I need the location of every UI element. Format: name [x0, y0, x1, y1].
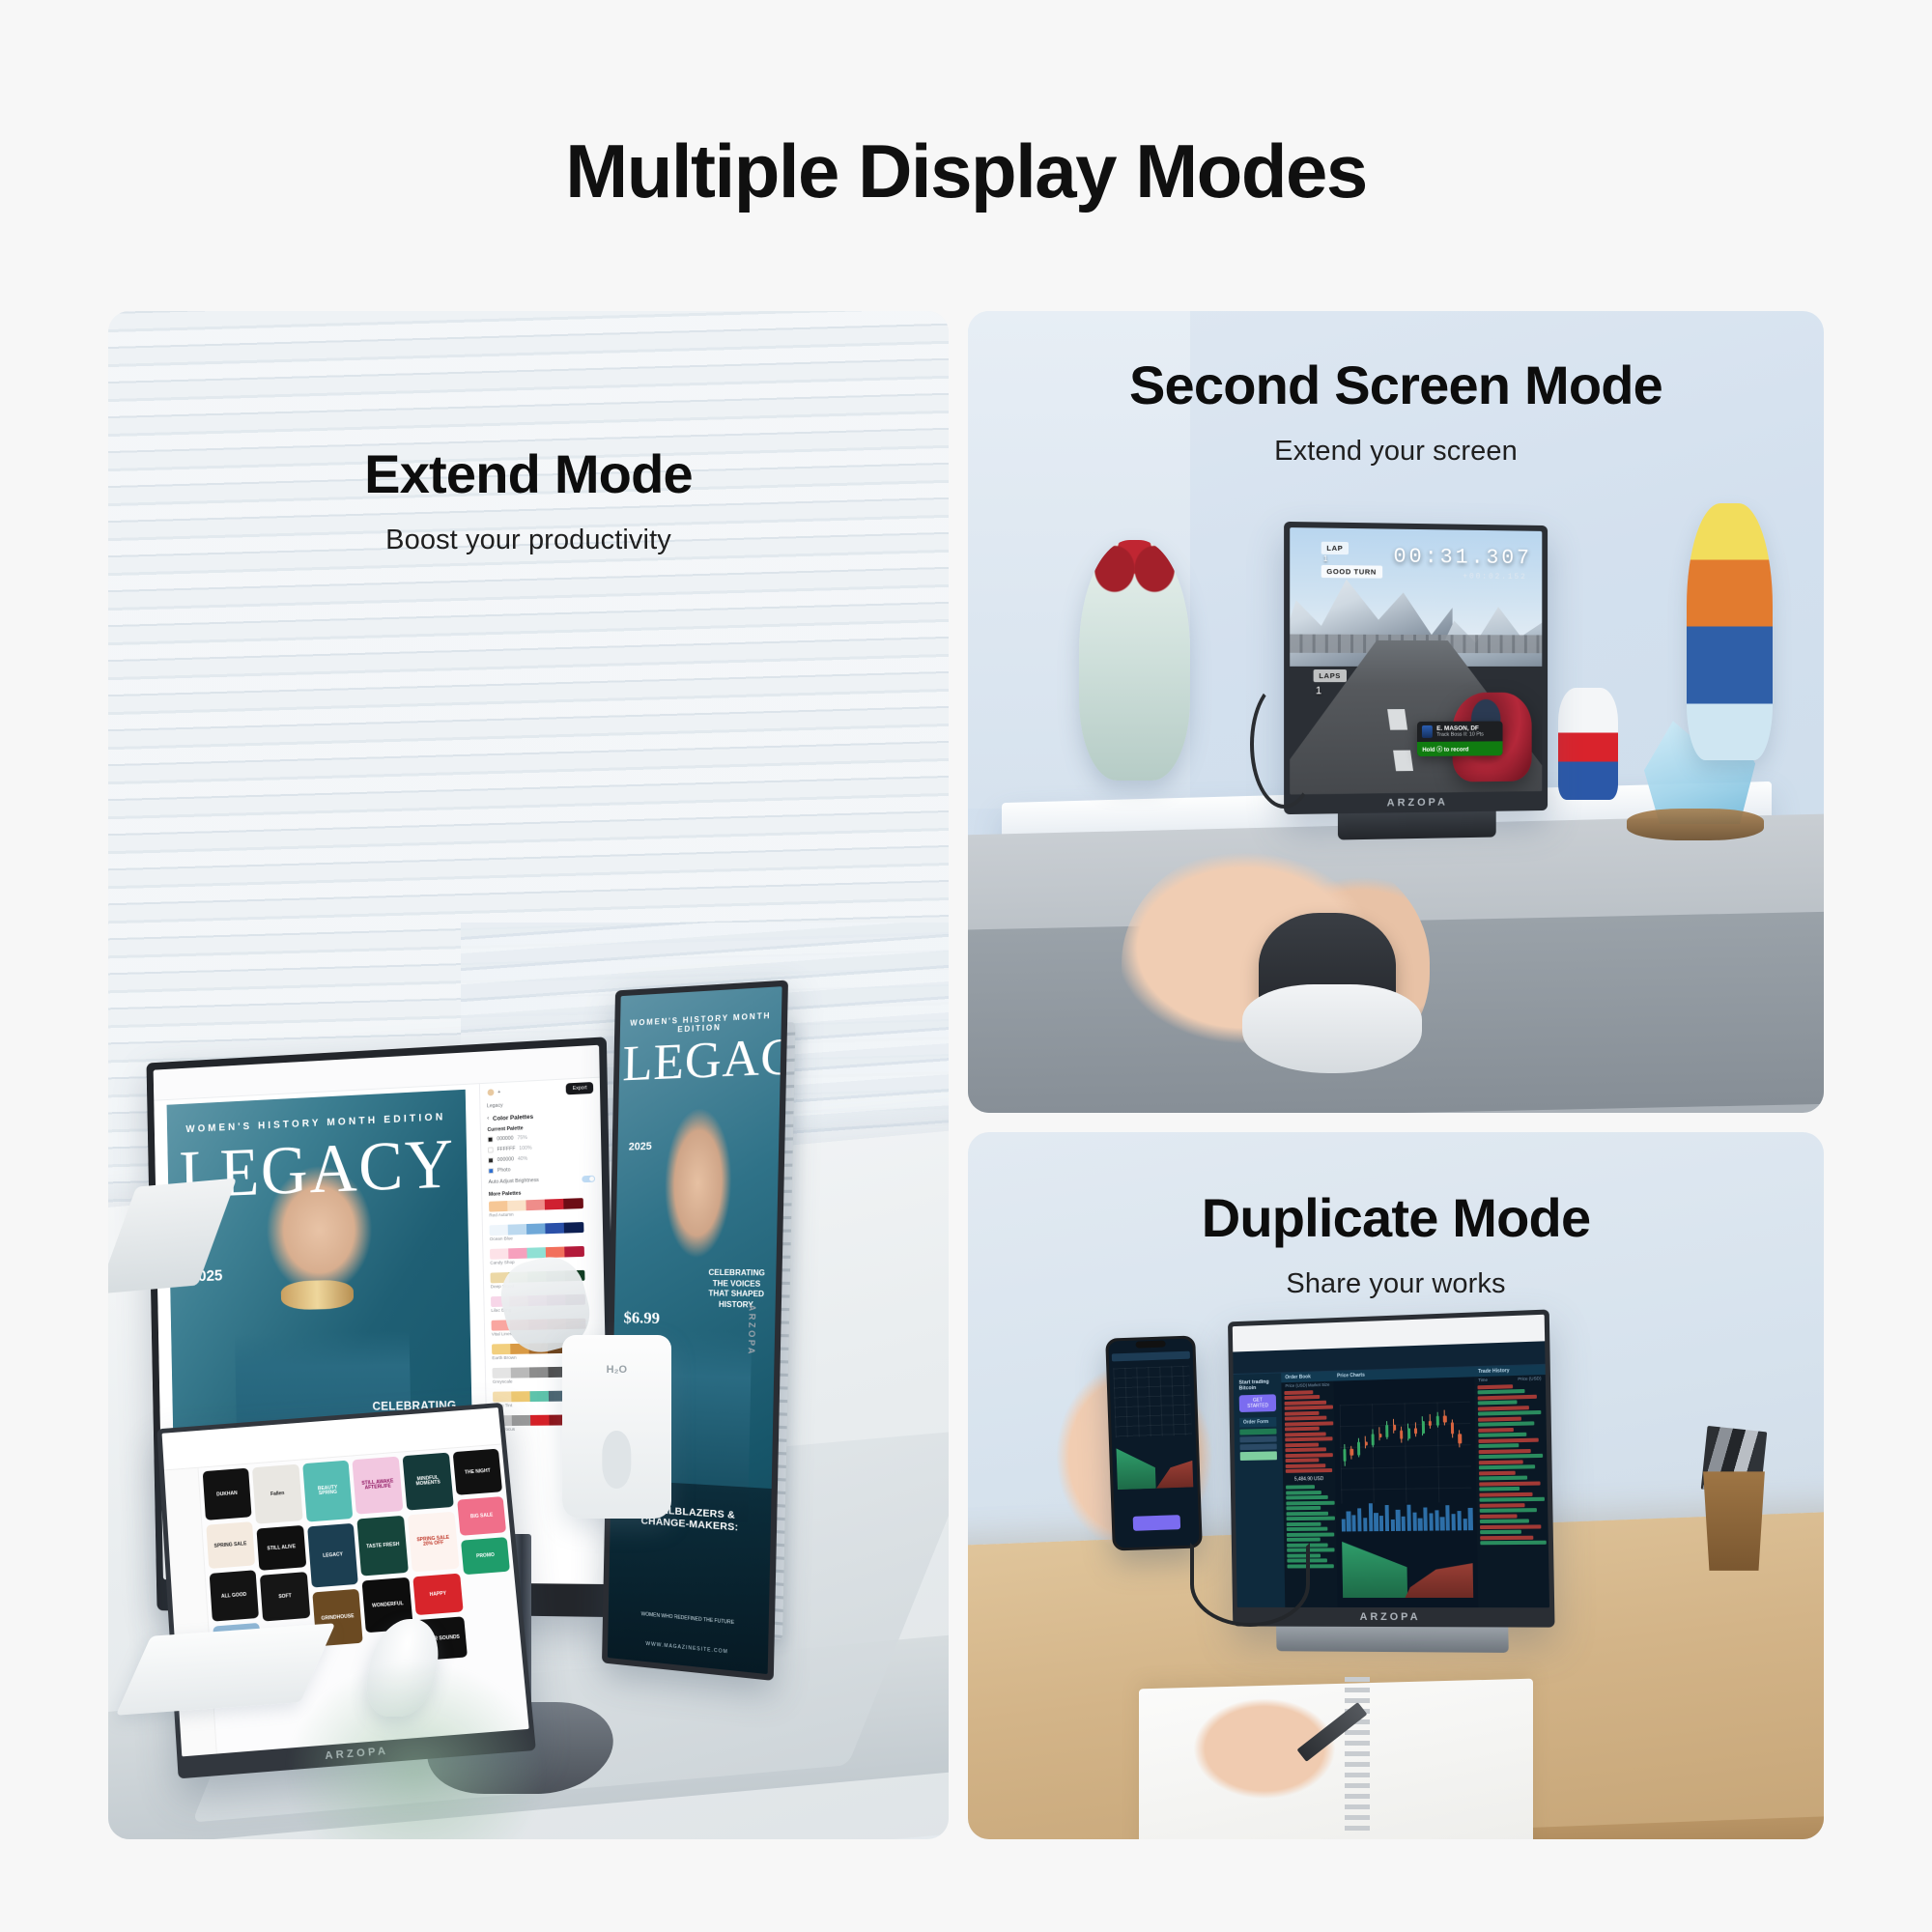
history-row	[1477, 1401, 1517, 1406]
volume-bar	[1468, 1508, 1473, 1531]
depth-sell-area	[1405, 1559, 1474, 1598]
card-duplicate-mode[interactable]: Start trading Bitcoin GET STARTED Order …	[968, 1132, 1824, 1839]
order-row	[1286, 1463, 1325, 1468]
gallery-pin[interactable]: ALL GOOD	[209, 1571, 259, 1622]
duplicate-card-subtitle: Share your works	[968, 1268, 1824, 1300]
cover-necklace	[281, 1279, 354, 1310]
palette-name: Red Autumn	[489, 1210, 596, 1219]
xbox-achievement-toast: E. MASON, DF Track Boss II: 10 Pts Hold …	[1417, 721, 1502, 755]
candle-body	[1429, 1421, 1432, 1426]
history-row	[1479, 1476, 1528, 1481]
volume-bar	[1357, 1508, 1362, 1532]
color-opacity: 100%	[519, 1146, 531, 1152]
avatar	[486, 1089, 495, 1097]
brand-logo-duplicate-monitor: ARZOPA	[1359, 1611, 1420, 1623]
order-row	[1287, 1538, 1321, 1542]
history-row	[1477, 1384, 1513, 1389]
history-row	[1479, 1497, 1545, 1502]
export-button[interactable]: Export	[566, 1082, 594, 1094]
hud-lap-delta: +00:02.152	[1463, 572, 1526, 582]
trade-history-panel[interactable]: Trade History Time Price (USD)	[1474, 1365, 1549, 1607]
history-row	[1479, 1492, 1532, 1497]
current-color-row[interactable]: Photo	[488, 1164, 595, 1175]
history-row	[1480, 1541, 1546, 1546]
candle-body	[1392, 1425, 1395, 1431]
history-row	[1479, 1508, 1536, 1513]
controller-grip	[1242, 984, 1422, 1072]
order-row	[1285, 1406, 1334, 1410]
orderbook-col-size: Market Size	[1308, 1382, 1330, 1388]
document-name: Legacy	[487, 1098, 594, 1109]
portrait-cover-caption: CELEBRATING THE VOICES THAT SHAPED HISTO…	[703, 1268, 770, 1311]
candle-body	[1414, 1429, 1417, 1434]
history-row	[1478, 1422, 1534, 1427]
order-row	[1287, 1527, 1327, 1531]
volume-bar	[1341, 1520, 1345, 1532]
toast-title: E. MASON, DF	[1436, 724, 1484, 731]
history-col-price: Price (USD)	[1518, 1377, 1541, 1382]
volume-bar	[1384, 1505, 1389, 1532]
order-row	[1286, 1486, 1315, 1490]
color-opacity: 75%	[517, 1135, 527, 1141]
order-form-field-3[interactable]	[1239, 1444, 1276, 1451]
volume-bar	[1368, 1503, 1373, 1531]
gallery-pin[interactable]: Fallen	[252, 1464, 302, 1524]
history-row	[1479, 1465, 1536, 1470]
history-row	[1478, 1454, 1543, 1459]
history-row	[1477, 1389, 1524, 1394]
auto-brightness-toggle[interactable]	[582, 1176, 595, 1183]
current-palette-list: 00000075%FFFFFF100%00000040%Photo	[487, 1132, 595, 1174]
volume-bar	[1423, 1508, 1428, 1531]
order-row	[1285, 1416, 1326, 1421]
candle-body	[1385, 1426, 1388, 1437]
hud-lap-label-top: LAP	[1321, 541, 1349, 554]
volume-bar	[1451, 1515, 1456, 1531]
current-color-row[interactable]: FFFFFF100%	[488, 1143, 595, 1153]
second-card-subtitle: Extend your screen	[968, 436, 1824, 468]
smartphone[interactable]	[1105, 1336, 1203, 1551]
history-row	[1478, 1433, 1526, 1437]
volume-bar	[1440, 1517, 1445, 1531]
order-row	[1286, 1491, 1321, 1494]
history-row	[1478, 1460, 1522, 1464]
history-row	[1479, 1487, 1520, 1492]
page-title: Multiple Display Modes	[0, 128, 1932, 215]
order-row	[1285, 1437, 1332, 1442]
order-row	[1286, 1468, 1332, 1473]
volume-bar	[1374, 1513, 1378, 1532]
trade-history-rows	[1474, 1383, 1548, 1546]
card-extend-mode[interactable]: WOMEN'S HISTORY MONTH EDITION LEGACY 202…	[108, 311, 949, 1839]
candle-body	[1378, 1434, 1381, 1437]
order-form-field-2[interactable]	[1239, 1436, 1276, 1443]
gallery-pin[interactable]: SPRING SALE	[206, 1522, 255, 1570]
candle-body	[1458, 1434, 1461, 1444]
order-row	[1285, 1442, 1319, 1447]
history-row	[1478, 1449, 1530, 1454]
toast-subtitle: Track Boss II: 10 Pts	[1436, 731, 1484, 737]
volume-bar	[1412, 1513, 1417, 1531]
palette-name: Ocean Blue	[489, 1235, 596, 1243]
depth-buy-area	[1342, 1542, 1407, 1599]
order-row	[1287, 1517, 1335, 1521]
volume-bar	[1390, 1520, 1394, 1531]
gaming-monitor-bezel: 00:31.307 +00:02.152 GOOD TURN LAP 1 LAP…	[1284, 522, 1548, 814]
history-row	[1480, 1524, 1542, 1529]
current-color-row[interactable]: 00000040%	[488, 1153, 595, 1164]
history-row	[1478, 1437, 1538, 1442]
history-row	[1480, 1536, 1534, 1541]
candle-body	[1350, 1449, 1353, 1456]
portrait-cover-title: LEGACY	[622, 1035, 778, 1088]
extend-card-subtitle: Boost your productivity	[108, 525, 949, 556]
brand-logo-gaming-monitor: ARZOPA	[1386, 796, 1447, 809]
figure-wood-stand	[1627, 809, 1764, 840]
candle-body	[1443, 1416, 1446, 1423]
duplicate-card-header: Duplicate Mode Share your works	[968, 1190, 1824, 1300]
volume-bar	[1418, 1518, 1422, 1531]
history-row	[1478, 1428, 1514, 1433]
palette-item[interactable]: Red Autumn	[489, 1198, 596, 1219]
portrait-cover-year: 2025	[628, 1141, 651, 1153]
candle-body	[1364, 1442, 1367, 1446]
volume-bar	[1406, 1505, 1411, 1531]
order-row	[1286, 1459, 1319, 1463]
color-swatch	[488, 1168, 494, 1174]
volume-bar	[1396, 1510, 1401, 1532]
more-palettes-heading: More Palettes	[488, 1188, 595, 1198]
achievement-icon	[1422, 724, 1433, 737]
hud-lap-value-top: 1	[1323, 554, 1328, 563]
order-row	[1285, 1432, 1325, 1436]
foreground-plant	[268, 1534, 638, 1839]
color-swatch	[488, 1147, 494, 1152]
volume-bar	[1429, 1514, 1434, 1531]
orderbook-spread: 5,484.90 USD	[1283, 1474, 1335, 1485]
color-swatch	[487, 1137, 493, 1143]
humidifier: H₂O	[562, 1335, 671, 1519]
candle-body	[1406, 1429, 1409, 1438]
phone-notch	[1135, 1341, 1166, 1349]
hud-laps-value: 1	[1316, 685, 1321, 696]
history-row	[1480, 1530, 1521, 1534]
volume-bar	[1379, 1516, 1383, 1532]
color-hex: Photo	[497, 1167, 511, 1173]
market-depth-chart	[1342, 1536, 1474, 1599]
gaming-monitor-screen[interactable]: 00:31.307 +00:02.152 GOOD TURN LAP 1 LAP…	[1290, 527, 1542, 794]
order-row	[1285, 1411, 1320, 1416]
order-row	[1286, 1453, 1333, 1458]
history-row	[1478, 1444, 1519, 1449]
phone-app-header	[1112, 1351, 1189, 1362]
gaming-monitor-stand	[1338, 810, 1496, 839]
palette-item[interactable]: Ocean Blue	[489, 1222, 596, 1243]
order-row	[1287, 1512, 1328, 1516]
add-collaborator-icon[interactable]: +	[497, 1090, 500, 1095]
history-row	[1478, 1410, 1542, 1416]
frieza-figurine	[1079, 540, 1190, 781]
order-row	[1287, 1522, 1321, 1526]
order-row	[1285, 1395, 1320, 1400]
palette-swatch-strip	[490, 1246, 584, 1260]
phone-depth-buy	[1117, 1447, 1156, 1490]
second-card-title: Second Screen Mode	[968, 357, 1824, 414]
phone-depth-sell	[1155, 1459, 1193, 1489]
gundam-figurine	[1558, 688, 1618, 800]
duplicate-card-title: Duplicate Mode	[968, 1190, 1824, 1247]
gallery-pin[interactable]: DUKHAN	[202, 1468, 252, 1520]
orderbook-sell-rows	[1282, 1389, 1335, 1473]
order-row	[1287, 1532, 1334, 1536]
sidebar-get-started-button[interactable]: GET STARTED	[1239, 1395, 1277, 1413]
card-second-screen-mode[interactable]: 00:31.307 +00:02.152 GOOD TURN LAP 1 LAP…	[968, 311, 1824, 1113]
candle-body	[1371, 1434, 1374, 1445]
usb-c-cable	[1250, 680, 1319, 809]
order-row	[1286, 1495, 1328, 1500]
color-swatch	[488, 1157, 494, 1163]
humidifier-label: H₂O	[607, 1364, 627, 1376]
volume-histogram	[1341, 1502, 1472, 1532]
order-row	[1286, 1501, 1335, 1506]
volume-bar	[1347, 1512, 1351, 1532]
candle-body	[1400, 1431, 1403, 1438]
candle-body	[1435, 1416, 1438, 1426]
feature-card-grid: WOMEN'S HISTORY MONTH EDITION LEGACY 202…	[108, 311, 1824, 1839]
history-row	[1479, 1471, 1516, 1476]
order-row	[1285, 1421, 1333, 1426]
order-row	[1286, 1506, 1321, 1510]
phone-candlestick-chart	[1114, 1366, 1192, 1438]
volume-bar	[1435, 1511, 1439, 1531]
history-row	[1477, 1395, 1537, 1401]
order-submit-button[interactable]	[1239, 1452, 1277, 1462]
hud-lap-time: 00:31.307	[1393, 545, 1531, 571]
gallery-pin[interactable]: STILL AWAKE AFTERLIFE	[353, 1457, 404, 1515]
history-row	[1479, 1481, 1540, 1486]
toast-body: E. MASON, DF Track Boss II: 10 Pts	[1417, 721, 1502, 741]
history-row	[1478, 1416, 1521, 1421]
toast-action-hint: Hold ⓧ to record	[1417, 741, 1502, 756]
band-subtitle: WOMEN WHO REDEFINED THE FUTURE	[623, 1610, 752, 1629]
panel-heading: Color Palettes	[493, 1114, 533, 1122]
portable-monitor-gaming[interactable]: 00:31.307 +00:02.152 GOOD TURN LAP 1 LAP…	[1284, 522, 1548, 814]
extend-card-title: Extend Mode	[108, 446, 949, 503]
candle-body	[1343, 1449, 1346, 1462]
phone-screen[interactable]	[1108, 1339, 1199, 1548]
history-row	[1479, 1503, 1524, 1508]
volume-bar	[1457, 1512, 1462, 1531]
color-opacity: 40%	[517, 1156, 527, 1162]
candle-body	[1450, 1423, 1453, 1435]
hand-writing	[1182, 1684, 1353, 1825]
hud-good-turn-chip: GOOD TURN	[1321, 565, 1382, 579]
phone-primary-button[interactable]	[1133, 1515, 1180, 1531]
humidifier-button[interactable]	[603, 1431, 631, 1490]
volume-bar	[1363, 1519, 1367, 1532]
candlestick-chart	[1339, 1401, 1471, 1503]
order-row	[1284, 1390, 1312, 1395]
gallery-pin[interactable]: BIG SALE	[457, 1496, 507, 1536]
chevron-left-icon[interactable]: ‹	[487, 1117, 489, 1122]
order-form-field-1[interactable]	[1239, 1429, 1276, 1435]
gallery-pin[interactable]: THE NIGHT	[452, 1449, 502, 1495]
history-col-time: Time	[1478, 1378, 1488, 1382]
brand-logo-portrait-monitor: ARZOPA	[746, 1304, 756, 1356]
color-hex: 000000	[497, 1136, 513, 1143]
duplicate-monitor-stand	[1276, 1627, 1508, 1653]
order-row	[1285, 1427, 1319, 1432]
history-row	[1479, 1514, 1517, 1519]
color-hex: 000000	[497, 1156, 513, 1163]
product-feature-page: Multiple Display Modes	[0, 0, 1932, 1932]
goku-figurine	[1687, 503, 1773, 760]
volume-bar	[1351, 1516, 1355, 1532]
second-card-header: Second Screen Mode Extend your screen	[968, 357, 1824, 468]
candle-body	[1357, 1442, 1360, 1456]
history-row	[1479, 1520, 1528, 1524]
current-color-row[interactable]: 00000075%	[487, 1132, 594, 1143]
volume-bar	[1445, 1506, 1450, 1531]
gallery-pin[interactable]: MINDFUL MOMENTS	[403, 1453, 454, 1511]
price-chart-panel[interactable]: Price Charts	[1333, 1368, 1478, 1608]
auto-brightness-label: Auto Adjust Brightness	[488, 1179, 538, 1186]
order-form-heading: Order Form	[1239, 1417, 1277, 1428]
hud-laps-label: LAPS	[1313, 669, 1347, 682]
volume-bar	[1402, 1517, 1406, 1532]
sidebar-heading: Start trading Bitcoin	[1238, 1379, 1276, 1392]
color-hex: FFFFFF	[497, 1146, 515, 1152]
gallery-pin[interactable]: BEAUTY SPRING	[302, 1461, 354, 1522]
order-row	[1285, 1448, 1325, 1453]
portrait-cover-price: $6.99	[623, 1308, 660, 1328]
volume-bar	[1463, 1519, 1467, 1531]
extend-card-header: Extend Mode Boost your productivity	[108, 446, 949, 556]
candle-body	[1421, 1422, 1424, 1435]
orderbook-col-price: Price (USD)	[1285, 1383, 1307, 1389]
